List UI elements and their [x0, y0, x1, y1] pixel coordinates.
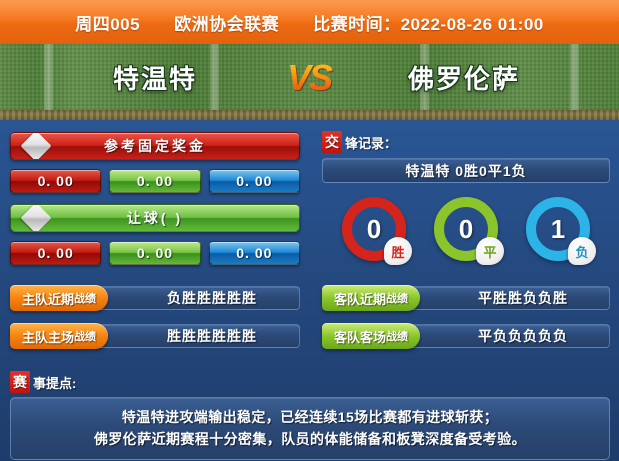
fixed-odds-title: 参考固定奖金 — [104, 136, 206, 156]
ring-value-draw: 0 — [459, 216, 473, 242]
tag-suffix: 战绩 — [386, 290, 408, 306]
ring-value-loss: 1 — [551, 216, 565, 242]
tag-suffix: 战绩 — [386, 328, 408, 344]
home-team-name: 特温特 — [30, 44, 280, 110]
handicap-home[interactable]: 0. 00 — [10, 241, 101, 265]
head-to-head-panel: 交 锋记录： 特温特 0胜0平1负 0 胜 0 平 1 负 — [322, 132, 610, 349]
ring-label-loss: 负 — [568, 237, 596, 265]
fixed-odds-title-bar[interactable]: 参考固定奖金 — [10, 132, 300, 160]
away-recent-form-tag: 客队近期战绩 — [322, 285, 420, 311]
home-home-form-bar: 胜胜胜胜胜胜 — [82, 324, 300, 348]
h2h-ring-win: 0 胜 — [342, 197, 406, 261]
away-away-form-row: 平负负负负负 客队客场战绩 — [322, 323, 610, 349]
ring-label-draw: 平 — [476, 237, 504, 265]
handicap-title: 让球( ) — [127, 208, 183, 228]
tag-suffix: 战绩 — [74, 328, 96, 344]
h2h-heading: 交 锋记录： — [322, 132, 610, 152]
match-number: 周四005 — [75, 10, 140, 35]
handicap-away[interactable]: 0. 00 — [209, 241, 300, 265]
tag-prefix: 主队 — [22, 289, 48, 308]
home-recent-form-row: 负胜胜胜胜胜 主队近期战绩 — [10, 285, 300, 311]
diamond-icon — [20, 132, 51, 160]
handicap-values-row: 0. 00 0. 00 0. 00 — [10, 241, 300, 265]
away-recent-form-bar: 平胜胜负负胜 — [394, 286, 610, 310]
notes-heading-text: 事提点: — [33, 373, 76, 392]
home-home-form-tag: 主队主场战绩 — [10, 323, 108, 349]
h2h-summary-bar: 特温特 0胜0平1负 — [322, 158, 610, 183]
tag-mid: 近期 — [360, 289, 386, 308]
away-recent-form-result: 平胜胜负负胜 — [478, 288, 568, 308]
fixed-odds-home[interactable]: 0. 00 — [10, 169, 101, 193]
tag-prefix: 客队 — [334, 327, 360, 346]
notes-badge-icon: 赛 — [10, 371, 30, 393]
main-content: 参考固定奖金 0. 00 0. 00 0. 00 让球( ) 0. 00 0. … — [0, 120, 619, 461]
match-header-bar: 周四005 欧洲协会联赛 比赛时间：2022-08-26 01:00 — [0, 0, 619, 44]
h2h-rings: 0 胜 0 平 1 负 — [322, 197, 610, 261]
tag-suffix: 战绩 — [74, 290, 96, 306]
vs-icon: VS — [277, 46, 341, 110]
home-recent-form-result: 负胜胜胜胜胜 — [167, 288, 257, 308]
away-away-form-bar: 平负负负负负 — [394, 324, 610, 348]
league-name: 欧洲协会联赛 — [174, 10, 279, 35]
away-away-form-tag: 客队客场战绩 — [322, 323, 420, 349]
tag-mid: 近期 — [48, 289, 74, 308]
handicap-draw[interactable]: 0. 00 — [109, 241, 200, 265]
ring-label-win: 胜 — [384, 237, 412, 265]
home-recent-form-tag: 主队近期战绩 — [10, 285, 108, 311]
tag-prefix: 主队 — [22, 327, 48, 346]
pitch-dirt-strip — [0, 110, 619, 120]
away-away-form-result: 平负负负负负 — [478, 326, 568, 346]
h2h-badge-icon: 交 — [322, 131, 342, 153]
diamond-icon — [20, 204, 51, 232]
h2h-ring-loss: 1 负 — [526, 197, 590, 261]
home-home-form-result: 胜胜胜胜胜胜 — [167, 326, 257, 346]
fixed-odds-values-row: 0. 00 0. 00 0. 00 — [10, 169, 300, 193]
fixed-odds-draw[interactable]: 0. 00 — [109, 169, 200, 193]
notes-heading: 赛 事提点: — [10, 372, 610, 392]
match-time: 比赛时间：2022-08-26 01:00 — [313, 10, 544, 35]
tag-prefix: 客队 — [334, 289, 360, 308]
notes-box: 特温特进攻端输出稳定，已经连续15场比赛都有进球斩获； 佛罗伦萨近期赛程十分密集… — [10, 397, 610, 460]
away-team-name: 佛罗伦萨 — [339, 44, 589, 110]
home-recent-form-bar: 负胜胜胜胜胜 — [82, 286, 300, 310]
tag-mid: 客场 — [360, 327, 386, 346]
tag-mid: 主场 — [48, 327, 74, 346]
notes-line-2: 佛罗伦萨近期赛程十分密集，队员的体能储备和板凳深度备受考验。 — [21, 429, 599, 451]
away-recent-form-row: 平胜胜负负胜 客队近期战绩 — [322, 285, 610, 311]
notes-line-1: 特温特进攻端输出稳定，已经连续15场比赛都有进球斩获； — [21, 407, 599, 429]
h2h-heading-text: 锋记录： — [345, 133, 397, 152]
match-notes-section: 赛 事提点: 特温特进攻端输出稳定，已经连续15场比赛都有进球斩获； 佛罗伦萨近… — [10, 372, 610, 460]
odds-panel: 参考固定奖金 0. 00 0. 00 0. 00 让球( ) 0. 00 0. … — [10, 132, 300, 349]
h2h-ring-draw: 0 平 — [434, 197, 498, 261]
handicap-title-bar[interactable]: 让球( ) — [10, 204, 300, 232]
home-home-form-row: 胜胜胜胜胜胜 主队主场战绩 — [10, 323, 300, 349]
ring-value-win: 0 — [367, 216, 381, 242]
fixed-odds-away[interactable]: 0. 00 — [209, 169, 300, 193]
